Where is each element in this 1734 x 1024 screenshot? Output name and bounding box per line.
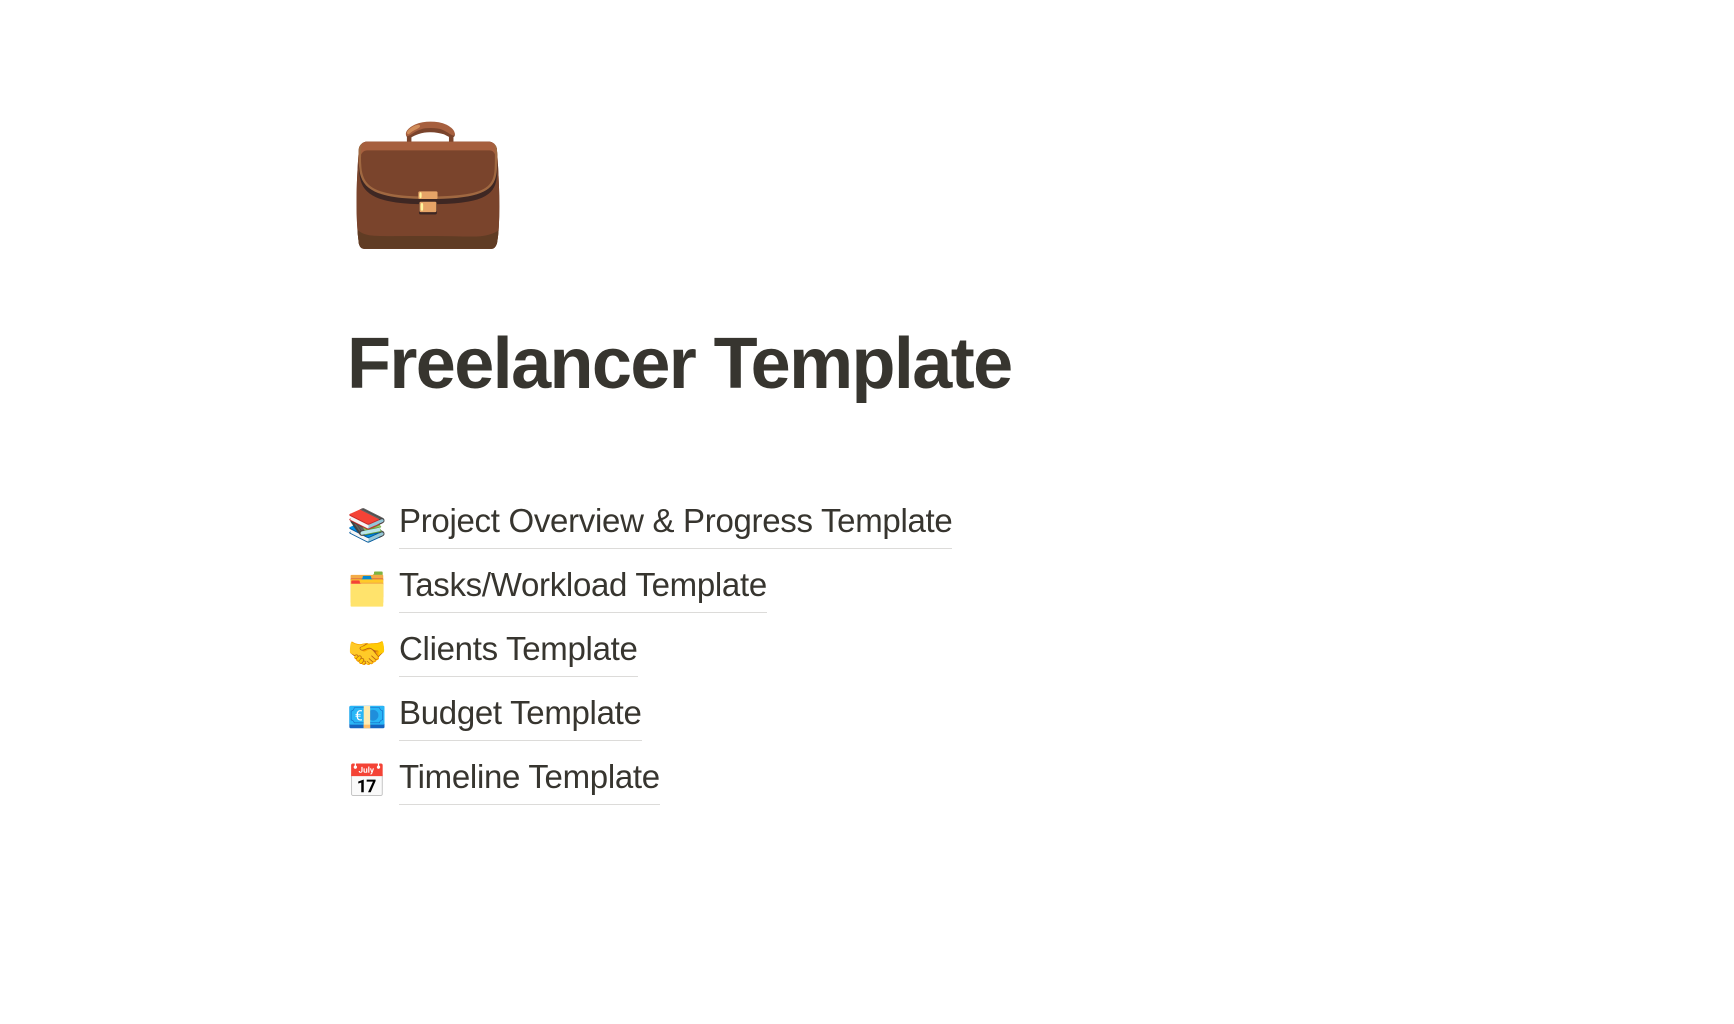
calendar-emoji: 📅 [347,765,399,797]
briefcase-emoji[interactable]: 💼 [347,112,1467,260]
list-item[interactable]: 🗂️ Tasks/Workload Template [347,557,1467,621]
euro-banknote-emoji: 💶 [347,701,399,733]
handshake-emoji: 🤝 [347,637,399,669]
list-item[interactable]: 💶 Budget Template [347,685,1467,749]
link-budget-template[interactable]: Budget Template [399,692,642,741]
list-item[interactable]: 📅 Timeline Template [347,749,1467,813]
link-timeline-template[interactable]: Timeline Template [399,756,660,805]
template-link-list: 📚 Project Overview & Progress Template 🗂… [347,493,1467,813]
link-clients-template[interactable]: Clients Template [399,628,638,677]
page-title: Freelancer Template [347,324,1467,405]
books-emoji: 📚 [347,509,399,541]
list-item[interactable]: 📚 Project Overview & Progress Template [347,493,1467,557]
link-tasks-workload-template[interactable]: Tasks/Workload Template [399,564,767,613]
document-page: 💼 Freelancer Template 📚 Project Overview… [0,0,1734,1024]
link-project-overview-progress-template[interactable]: Project Overview & Progress Template [399,500,952,549]
page-content: 💼 Freelancer Template 📚 Project Overview… [347,0,1467,813]
card-index-dividers-emoji: 🗂️ [347,573,399,605]
list-item[interactable]: 🤝 Clients Template [347,621,1467,685]
